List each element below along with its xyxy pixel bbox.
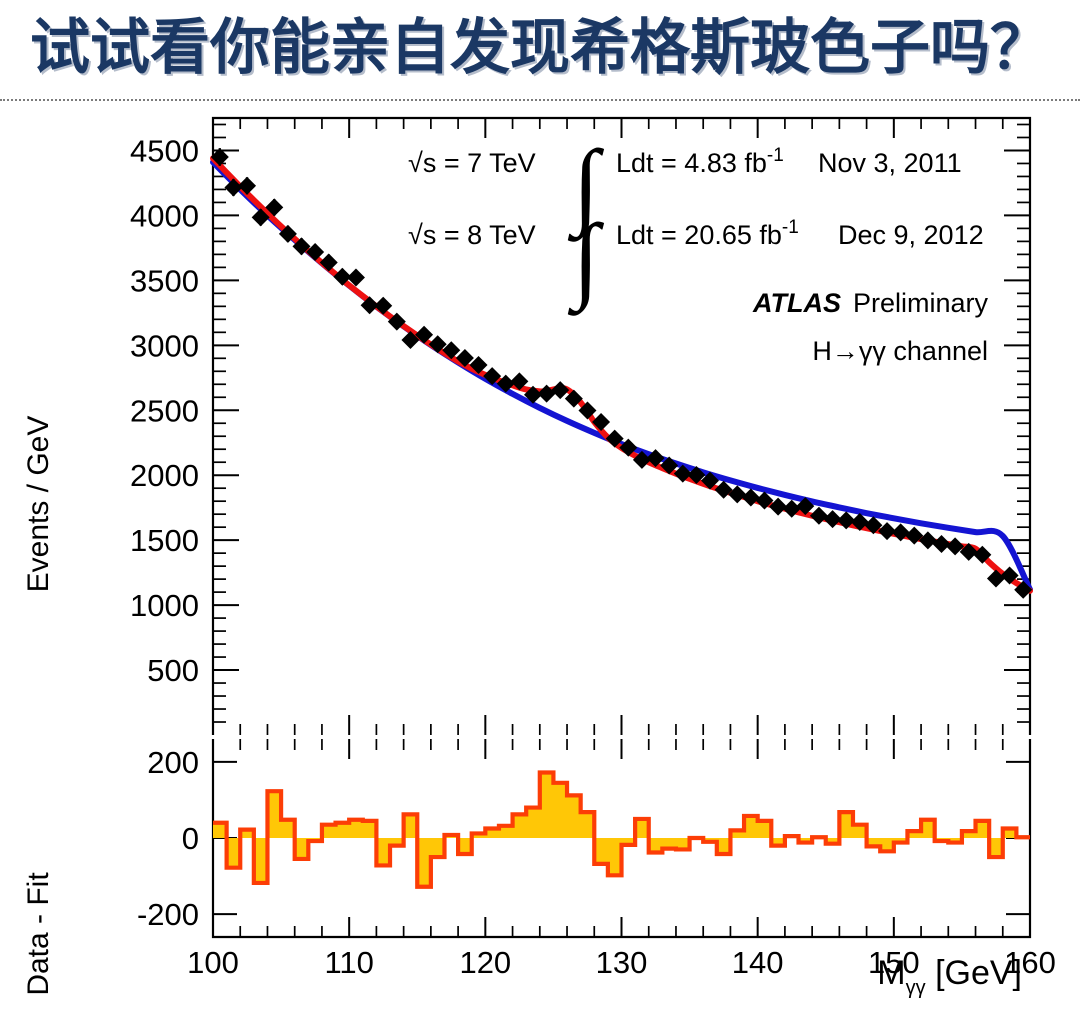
higgs-diphoton-figure: 50010001500200025003000350040004500 Even…: [0, 104, 1080, 1016]
x-axis-title: Mγγ [GeV]: [877, 954, 1022, 999]
title-divider: [0, 99, 1080, 101]
chart-canvas: 50010001500200025003000350040004500 Even…: [0, 104, 1080, 1016]
svg-text:200: 200: [147, 745, 199, 780]
svg-text:130: 130: [596, 945, 648, 980]
top-panel-frame: [213, 118, 1030, 735]
svg-text:4000: 4000: [130, 198, 199, 233]
legend-luminosity-2011: Ldt = 4.83 fb-1: [616, 145, 784, 178]
slide-root: 试试看你能亲自发现希格斯玻色子吗？ 5001000150020002500300…: [0, 0, 1080, 1016]
legend-sqrt-s-7tev: √s = 7 TeV: [408, 148, 536, 178]
data-points-group: [211, 148, 1032, 599]
svg-text:2000: 2000: [130, 458, 199, 493]
legend-sqrt-s-8tev: √s = 8 TeV: [408, 220, 536, 250]
y-axis-title-bottom: Data - Fit: [22, 872, 55, 996]
svg-text:1500: 1500: [130, 523, 199, 558]
top-panel-tick-labels: 50010001500200025003000350040004500: [130, 133, 199, 688]
bottom-panel-tick-labels: -2000200: [137, 745, 199, 932]
svg-text:120: 120: [459, 945, 511, 980]
legend-date-2012: Dec 9, 2012: [838, 220, 984, 250]
svg-text:140: 140: [732, 945, 784, 980]
top-panel-ticks: [213, 118, 1030, 735]
svg-text:110: 110: [324, 945, 373, 980]
y-axis-title-top: Events / GeV: [22, 416, 55, 593]
svg-text:500: 500: [147, 653, 199, 688]
svg-text:3000: 3000: [130, 328, 199, 363]
svg-text:1000: 1000: [130, 588, 199, 623]
experiment-label: ATLASPreliminary: [752, 288, 989, 318]
svg-text:4500: 4500: [130, 133, 199, 168]
svg-text:100: 100: [187, 945, 239, 980]
legend-date-2011: Nov 3, 2011: [818, 148, 962, 178]
svg-text:-200: -200: [137, 897, 199, 932]
svg-text:0: 0: [182, 821, 199, 856]
bottom-panel: -2000200 Data - Fit 10011012013014015016…: [22, 739, 1056, 999]
legend-luminosity-2012: Ldt = 20.65 fb-1: [616, 217, 799, 250]
legend-block: √s = 7 TeV √s = 8 TeV ∫ ∫ Ldt = 4.83 fb-…: [408, 130, 988, 366]
svg-text:2500: 2500: [130, 393, 199, 428]
svg-text:3500: 3500: [130, 263, 199, 298]
channel-label: H→γγ channel: [812, 336, 988, 366]
integral-symbol-2: ∫: [567, 204, 605, 316]
title-bar: 试试看你能亲自发现希格斯玻色子吗？: [0, 0, 1080, 96]
top-panel: 50010001500200025003000350040004500 Even…: [22, 118, 1032, 735]
page-title: 试试看你能亲自发现希格斯玻色子吗？: [30, 16, 1050, 80]
